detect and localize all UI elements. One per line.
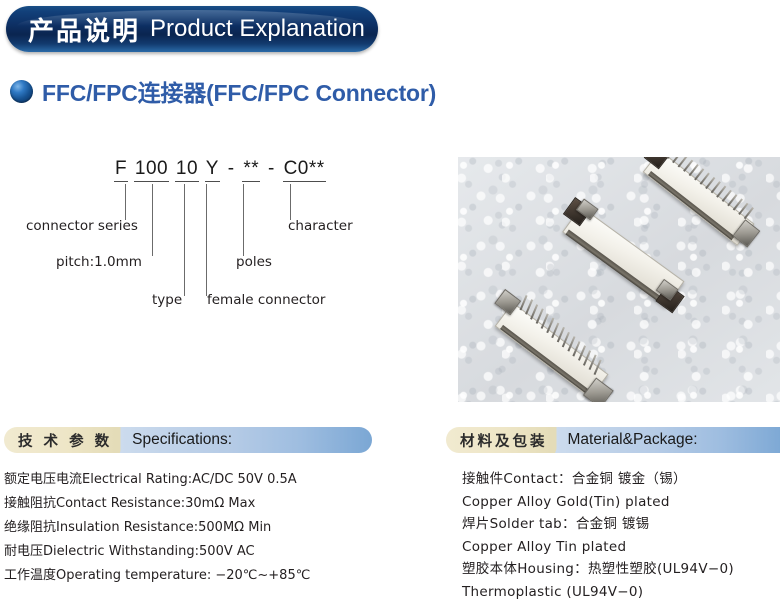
part-segment-pitch: 100 — [134, 158, 169, 182]
material-item-housing-en: Thermoplastic (UL94V−0) — [462, 581, 780, 603]
material-package-list: 接触件Contact：合金铜 镀金（锡） Copper Alloy Gold(T… — [462, 468, 780, 603]
blue-sphere-bullet-icon — [10, 80, 33, 103]
part-segment-character: C0** — [283, 158, 326, 182]
material-package-bar: 材料及包装 Material&Package: — [446, 427, 780, 453]
specifications-list: 额定电压电流Electrical Rating:AC/DC 50V 0.5A 接… — [4, 468, 424, 588]
spec-item-operating-temperature: 工作温度Operating temperature: −20℃~+85℃ — [4, 564, 424, 588]
spec-item-dielectric-withstanding: 耐电压Dielectric Withstanding:500V AC — [4, 540, 424, 564]
material-package-bar-chinese-label: 材料及包装 — [460, 430, 548, 451]
leader-line-type — [184, 184, 185, 296]
specifications-bar-english-part: Specifications: — [116, 427, 372, 453]
section-heading-label: FFC/FPC连接器(FFC/FPC Connector) — [42, 74, 436, 108]
spec-item-electrical-rating: 额定电压电流Electrical Rating:AC/DC 50V 0.5A — [4, 468, 424, 492]
material-item-contact-en: Copper Alloy Gold(Tin) plated — [462, 491, 780, 514]
part-segment-series: F — [114, 158, 128, 182]
callout-connector-series: connector series — [26, 218, 138, 234]
callout-female-connector: female connector — [207, 292, 325, 308]
part-segment-gender: Y — [205, 158, 220, 182]
part-segment-type: 10 — [175, 158, 199, 182]
page-title-chinese: 产品说明 — [28, 11, 140, 48]
part-dash-1: - — [226, 158, 237, 179]
material-package-bar-chinese-part: 材料及包装 — [446, 427, 552, 453]
callout-poles: poles — [236, 254, 272, 270]
material-item-solder-tab-cn: 焊片Solder tab：合金铜 镀锡 — [462, 513, 780, 536]
callout-character: character — [288, 218, 353, 234]
page-title-banner: 产品说明 Product Explanation — [6, 6, 378, 52]
spec-item-contact-resistance: 接触阻抗Contact Resistance:30mΩ Max — [4, 492, 424, 516]
leader-line-female-connector — [206, 184, 207, 296]
callout-type: type — [152, 292, 182, 308]
material-package-bar-english-label: Material&Package: — [568, 431, 698, 449]
specifications-bar: 技 术 参 数 Specifications: — [4, 427, 372, 453]
specifications-bar-chinese-label: 技 术 参 数 — [18, 430, 112, 451]
part-number-code: F 100 10 Y - ** - C0** — [114, 158, 326, 180]
leader-line-character — [290, 184, 291, 220]
specifications-bar-chinese-part: 技 术 参 数 — [4, 427, 116, 453]
section-heading: FFC/FPC连接器(FFC/FPC Connector) — [10, 74, 436, 108]
material-item-contact-cn: 接触件Contact：合金铜 镀金（锡） — [462, 468, 780, 491]
part-number-diagram: F 100 10 Y - ** - C0** connector series … — [0, 150, 440, 320]
product-photo — [458, 157, 780, 402]
part-segment-poles: ** — [242, 158, 260, 182]
leader-line-pitch — [152, 184, 153, 256]
specifications-bar-english-label: Specifications: — [132, 431, 232, 449]
callout-pitch: pitch:1.0mm — [56, 254, 142, 270]
material-item-housing-cn: 塑胶本体Housing：热塑性塑胶(UL94V−0) — [462, 558, 780, 581]
page-title-english: Product Explanation — [150, 15, 365, 43]
leader-line-connector-series — [125, 184, 126, 220]
part-dash-2: - — [266, 158, 277, 179]
leader-line-poles — [243, 184, 244, 256]
material-package-bar-english-part: Material&Package: — [552, 427, 780, 453]
spec-item-insulation-resistance: 绝缘阻抗Insulation Resistance:500MΩ Min — [4, 516, 424, 540]
material-item-solder-tab-en: Copper Alloy Tin plated — [462, 536, 780, 559]
